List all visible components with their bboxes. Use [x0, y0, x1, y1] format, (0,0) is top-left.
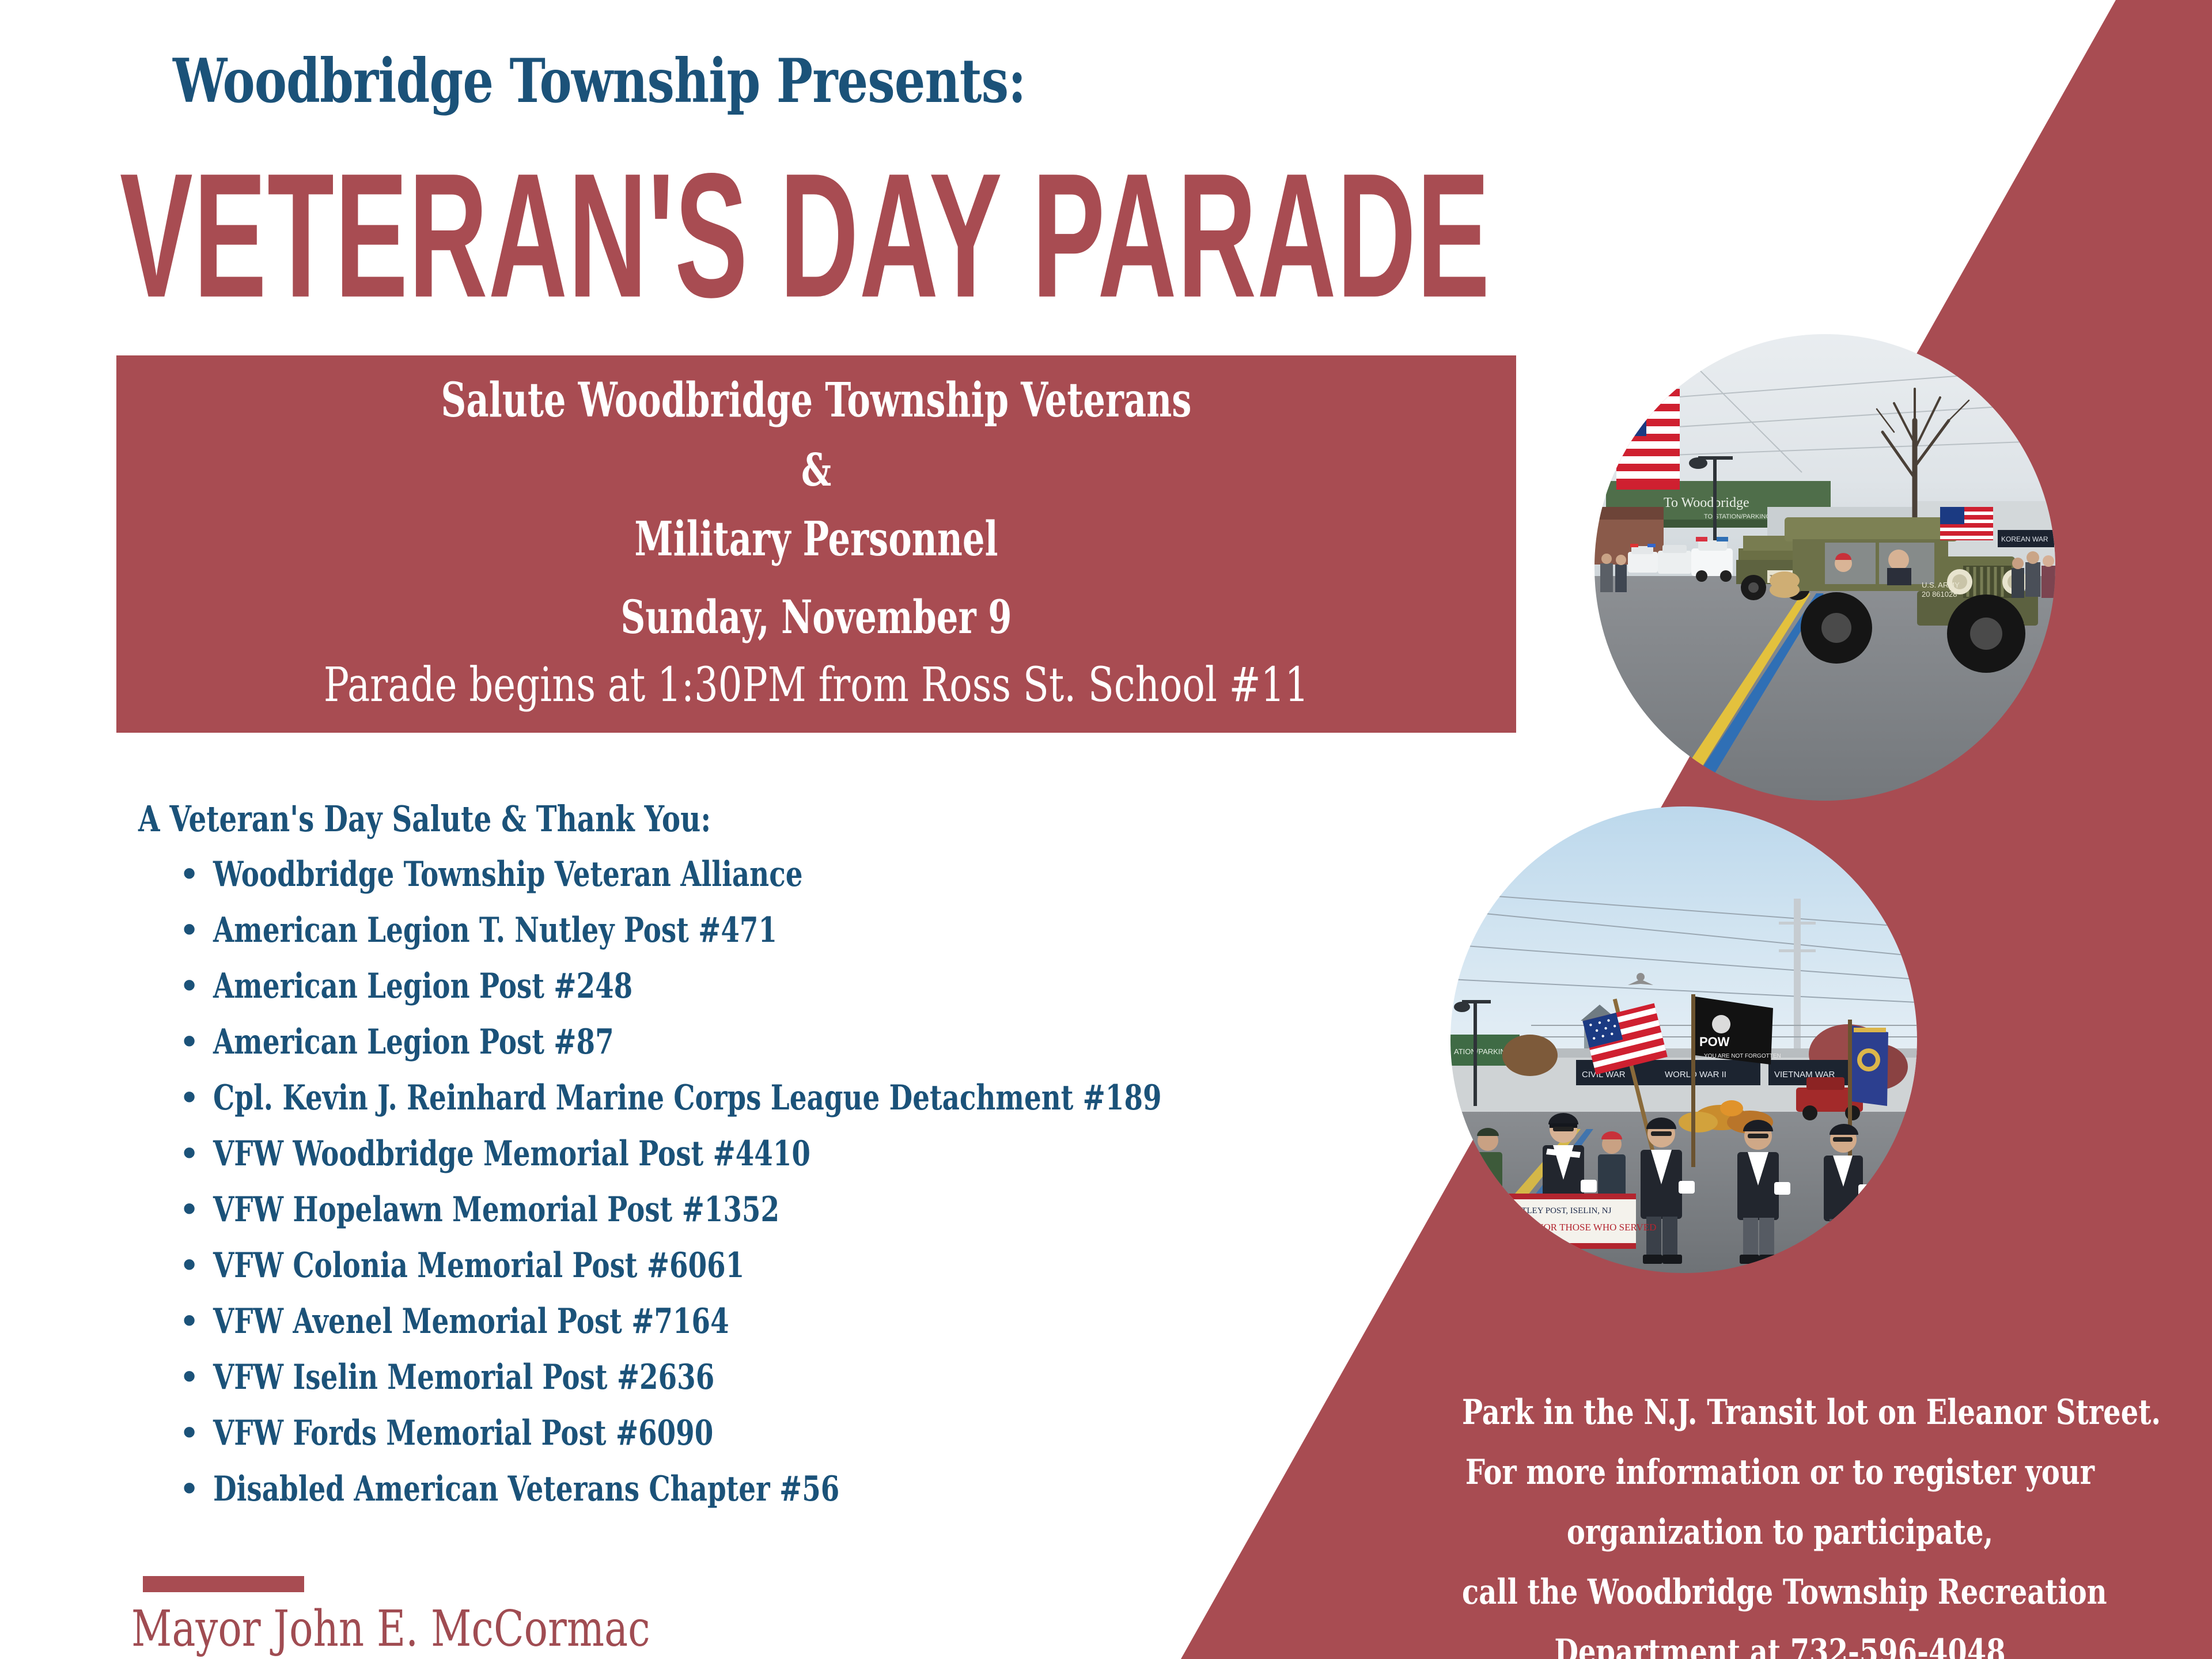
bullet-icon: •	[180, 1126, 199, 1182]
svg-text:KOREAN WAR: KOREAN WAR	[2001, 535, 2048, 543]
bullet-icon: •	[180, 959, 199, 1014]
page-title: VETERAN'S DAY PARADE	[120, 147, 1490, 324]
info-phone-line: Department at 732-596-4048	[1462, 1622, 2098, 1659]
parking-and-contact-info: Park in the N.J. Transit lot on Eleanor …	[1382, 1382, 2177, 1659]
bullet-icon: •	[180, 1182, 199, 1238]
banner-ampersand: &	[298, 444, 1334, 497]
info-call-line: call the Woodbridge Township Recreation	[1462, 1562, 2098, 1622]
veterans-day-parade-poster: To Woodbridge TO STATION/PARKING	[0, 0, 2212, 1659]
info-register-line-1: For more information or to register your	[1462, 1442, 2098, 1502]
list-item-label: VFW Avenel Memorial Post #7164	[213, 1294, 729, 1350]
list-item-label: VFW Iselin Memorial Post #2636	[213, 1350, 714, 1406]
svg-text:20 861028: 20 861028	[1922, 590, 1957, 599]
presents-heading: Woodbridge Township Presents:	[173, 45, 1025, 116]
list-item: •American Legion Post #87	[167, 1014, 1377, 1070]
list-item: •VFW Fords Memorial Post #6090	[167, 1406, 1377, 1461]
banner-start-info: Parade begins at 1:30PM from Ross St. Sc…	[256, 658, 1376, 713]
bullet-icon: •	[180, 1406, 199, 1461]
bullet-icon: •	[180, 903, 199, 959]
svg-text:POW: POW	[1699, 1035, 1730, 1049]
color-guard-photo: ATION/PARKING	[1450, 806, 1917, 1273]
bullet-icon: •	[180, 1461, 199, 1517]
parade-jeeps-photo: To Woodbridge TO STATION/PARKING	[1594, 334, 2055, 801]
list-item: •Woodbridge Township Veteran Alliance	[167, 847, 1377, 903]
salute-heading: A Veteran's Day Salute & Thank You:	[138, 798, 711, 840]
list-item-label: Cpl. Kevin J. Reinhard Marine Corps Leag…	[213, 1070, 1162, 1126]
svg-text:U.S. ARMY: U.S. ARMY	[1922, 581, 1960, 589]
list-item: •VFW Iselin Memorial Post #2636	[167, 1350, 1377, 1406]
bullet-icon: •	[180, 1014, 199, 1070]
list-item: •American Legion T. Nutley Post #471	[167, 903, 1377, 959]
banner-military-line: Military Personnel	[298, 512, 1334, 567]
list-item: •Disabled American Veterans Chapter #56	[167, 1461, 1377, 1517]
salute-organization-list: •Woodbridge Township Veteran Alliance•Am…	[167, 847, 1377, 1517]
list-item: •VFW Woodbridge Memorial Post #4410	[167, 1126, 1377, 1182]
list-item-label: VFW Fords Memorial Post #6090	[213, 1406, 713, 1461]
svg-text:YOU ARE NOT FORGOTTEN: YOU ARE NOT FORGOTTEN	[1704, 1053, 1781, 1059]
bullet-icon: •	[180, 1238, 199, 1294]
list-item: •American Legion Post #248	[167, 959, 1377, 1014]
parade-jeeps-illustration: To Woodbridge TO STATION/PARKING	[1594, 334, 2055, 801]
list-item-label: VFW Hopelawn Memorial Post #1352	[213, 1182, 779, 1238]
list-item: •Cpl. Kevin J. Reinhard Marine Corps Lea…	[167, 1070, 1377, 1126]
mayor-divider-rule	[143, 1576, 304, 1592]
banner-salute-line: Salute Woodbridge Township Veterans	[298, 373, 1334, 428]
mayor-name: Mayor John E. McCormac	[131, 1600, 650, 1658]
svg-text:WORLD WAR II: WORLD WAR II	[1665, 1070, 1726, 1080]
bullet-icon: •	[180, 1070, 199, 1126]
svg-text:To Woodbridge: To Woodbridge	[1664, 495, 1749, 510]
bullet-icon: •	[180, 1294, 199, 1350]
info-register-line-2: organization to participate,	[1462, 1502, 2098, 1562]
list-item-label: Disabled American Veterans Chapter #56	[213, 1461, 839, 1517]
list-item: • VFW Colonia Memorial Post #6061	[167, 1238, 1377, 1294]
bullet-icon: •	[180, 1350, 199, 1406]
list-item-label: Woodbridge Township Veteran Alliance	[213, 847, 802, 903]
banner-date: Sunday, November 9	[298, 590, 1334, 644]
color-guard-illustration: ATION/PARKING	[1450, 806, 1917, 1273]
list-item: •VFW Hopelawn Memorial Post #1352	[167, 1182, 1377, 1238]
list-item-label: American Legion T. Nutley Post #471	[213, 903, 777, 959]
list-item-label: American Legion Post #248	[213, 959, 632, 1014]
list-item-label: VFW Colonia Memorial Post #6061	[213, 1238, 744, 1294]
list-item: •VFW Avenel Memorial Post #7164	[167, 1294, 1377, 1350]
info-parking-line: Park in the N.J. Transit lot on Eleanor …	[1462, 1382, 2098, 1442]
list-item-label: American Legion Post #87	[213, 1014, 614, 1070]
list-item-label: VFW Woodbridge Memorial Post #4410	[213, 1126, 810, 1182]
bullet-icon: •	[180, 847, 199, 903]
event-details-banner: Salute Woodbridge Township Veterans & Mi…	[116, 355, 1516, 733]
